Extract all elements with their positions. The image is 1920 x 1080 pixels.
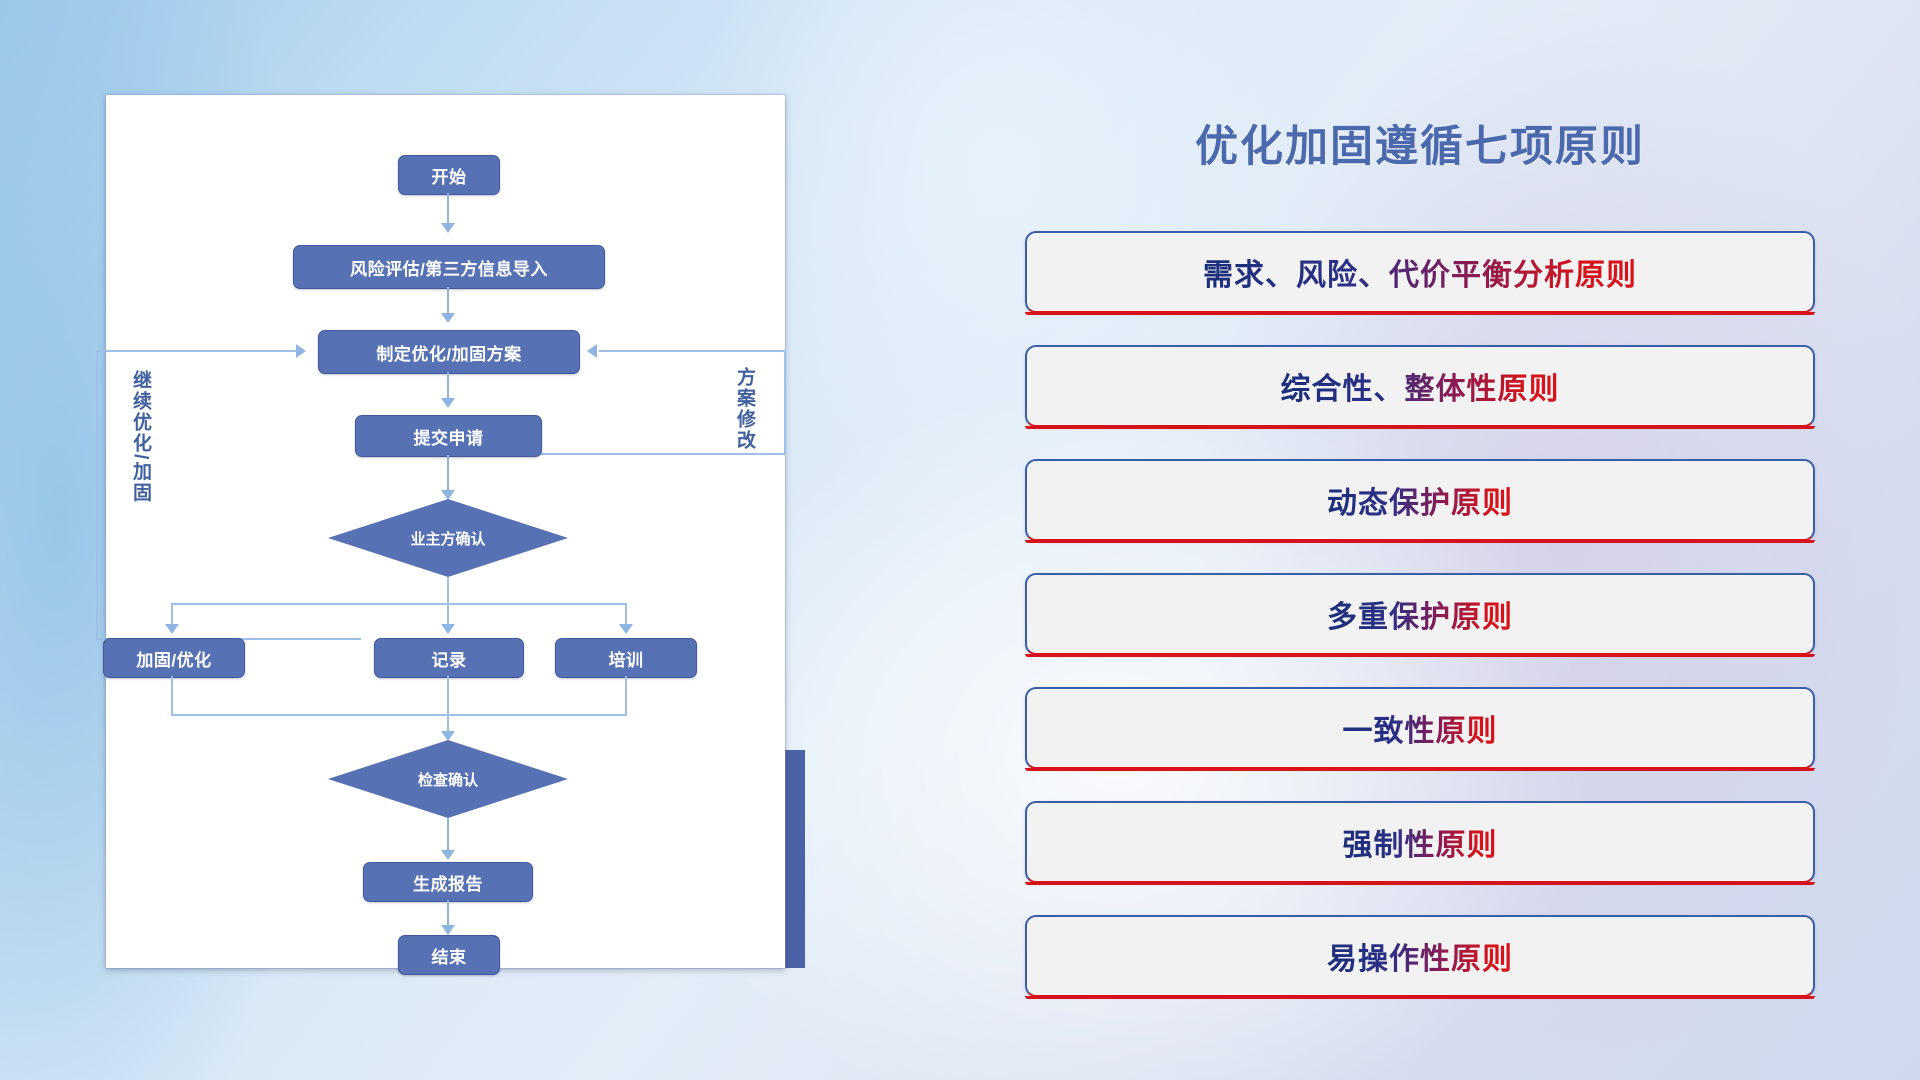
- flow-node-start[interactable]: 开始: [398, 155, 500, 195]
- arrow-fan-left-icon: [165, 624, 179, 634]
- principle-label: 多重保护原则: [1327, 592, 1513, 636]
- connector-merge-bar: [171, 714, 626, 716]
- principle-card[interactable]: 强制性原则: [1025, 801, 1815, 883]
- arrow-merge-check-icon: [441, 731, 455, 741]
- edge-label-plan-revise: 方案修改: [734, 367, 754, 451]
- flow-node-training[interactable]: 培训: [555, 638, 697, 678]
- arrow-plan-submit-icon: [441, 398, 455, 408]
- connector-loop-left-horizontal: [96, 350, 298, 352]
- connector-owner-fan-stem: [447, 577, 449, 605]
- principle-card[interactable]: 需求、风险、代价平衡分析原则: [1025, 231, 1815, 313]
- arrow-loop-left-into-plan-icon: [296, 344, 306, 358]
- flow-node-submit-application[interactable]: 提交申请: [355, 415, 542, 457]
- connector-loop-left-vertical: [96, 350, 98, 640]
- principle-card[interactable]: 多重保护原则: [1025, 573, 1815, 655]
- principle-label: 易操作性原则: [1327, 934, 1513, 978]
- principle-label: 动态保护原则: [1327, 478, 1513, 522]
- arrow-report-end-icon: [441, 925, 455, 935]
- arrow-start-risk-icon: [441, 223, 455, 233]
- flow-node-final-check[interactable]: 检查确认: [328, 740, 568, 818]
- arrow-loop-right-into-plan-icon: [587, 344, 597, 358]
- connector-merge-right: [625, 676, 627, 716]
- flow-node-risk-assessment[interactable]: 风险评估/第三方信息导入: [293, 245, 605, 289]
- flow-node-record[interactable]: 记录: [374, 638, 524, 678]
- slide-canvas: 开始 风险评估/第三方信息导入 制定优化/加固方案 继续优化/加固 方案修改 提…: [0, 0, 1920, 1080]
- principle-card[interactable]: 一致性原则: [1025, 687, 1815, 769]
- arrow-fan-mid-icon: [441, 624, 455, 634]
- connector-owner-fan-bar: [171, 603, 626, 605]
- connector-merge-stem: [447, 676, 449, 738]
- principle-label: 需求、风险、代价平衡分析原则: [1203, 250, 1637, 294]
- flow-node-owner-confirm[interactable]: 业主方确认: [328, 499, 568, 577]
- arrow-submit-owner-icon: [441, 490, 455, 500]
- principle-label: 一致性原则: [1343, 706, 1498, 750]
- principles-title: 优化加固遵循七项原则: [1020, 112, 1820, 174]
- flow-node-end[interactable]: 结束: [398, 935, 500, 975]
- principle-label: 强制性原则: [1343, 820, 1498, 864]
- flow-node-generate-report[interactable]: 生成报告: [363, 862, 533, 902]
- flow-node-make-plan[interactable]: 制定优化/加固方案: [318, 330, 580, 374]
- flow-node-reinforce-optimize[interactable]: 加固/优化: [103, 638, 245, 678]
- arrow-risk-plan-icon: [441, 313, 455, 323]
- edge-label-continue-optimize: 继续优化/加固: [130, 370, 150, 503]
- principle-card[interactable]: 综合性、整体性原则: [1025, 345, 1815, 427]
- principle-card[interactable]: 动态保护原则: [1025, 459, 1815, 541]
- arrow-fan-right-icon: [619, 624, 633, 634]
- connector-loop-right-vertical: [784, 350, 786, 455]
- connector-loop-right-horizontal: [599, 350, 786, 352]
- connector-loop-right-bottom: [536, 453, 786, 455]
- connector-merge-left: [171, 676, 173, 716]
- principle-card[interactable]: 易操作性原则: [1025, 915, 1815, 997]
- flowchart-panel: 开始 风险评估/第三方信息导入 制定优化/加固方案 继续优化/加固 方案修改 提…: [106, 95, 785, 968]
- principles-list: 需求、风险、代价平衡分析原则 综合性、整体性原则 动态保护原则 多重保护原则 一…: [1025, 231, 1815, 1029]
- arrow-check-report-icon: [441, 850, 455, 860]
- principle-label: 综合性、整体性原则: [1281, 364, 1560, 408]
